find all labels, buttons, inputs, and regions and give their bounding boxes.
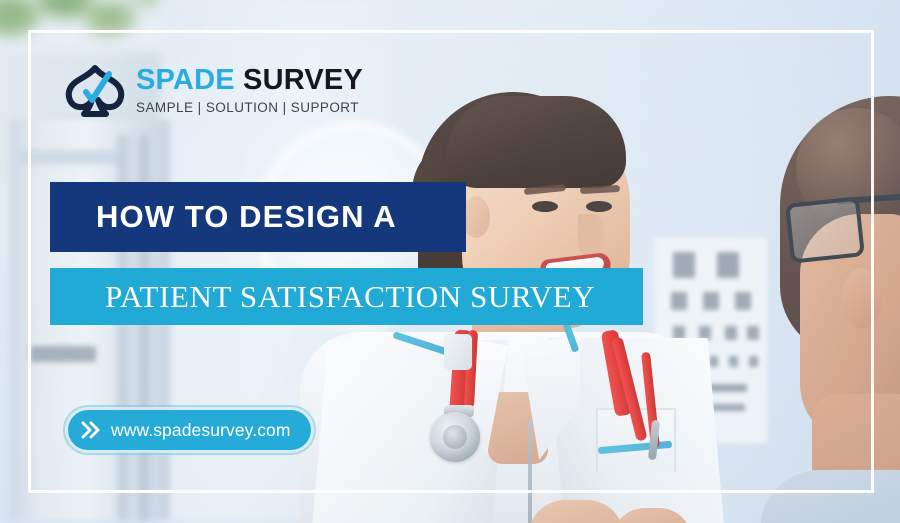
spade-check-icon [64,64,126,120]
patient-glasses-lens [785,196,865,263]
website-url-badge[interactable]: www.spadesurvey.com [68,410,311,450]
stethoscope-clip [444,334,472,370]
blurred-cabinet-handle [30,346,96,362]
doctor-coat-zipper [528,420,532,523]
headline-line-2: PATIENT SATISFACTION SURVEY [105,279,595,315]
logo-word-survey: SURVEY [235,64,363,96]
promotional-banner: SPADE SURVEY SAMPLE | SOLUTION | SUPPORT… [0,0,900,523]
logo-word-spade: SPADE [136,64,235,96]
logo-text-block: SPADE SURVEY SAMPLE | SOLUTION | SUPPORT [136,62,363,115]
headline-bar-primary: HOW TO DESIGN A [50,182,466,252]
website-url-text: www.spadesurvey.com [111,420,291,441]
doctor-eye-right [586,201,612,212]
patient-ear [842,268,882,328]
logo-tagline: SAMPLE | SOLUTION | SUPPORT [136,100,363,115]
headline-bar-secondary: PATIENT SATISFACTION SURVEY [50,268,643,325]
doctor-eye-left [532,201,558,212]
headline-line-1: HOW TO DESIGN A [96,199,397,235]
doctor-ear [462,196,490,238]
stethoscope-chestpiece [430,412,480,462]
doctor-nose [578,214,604,258]
brand-logo[interactable]: SPADE SURVEY SAMPLE | SOLUTION | SUPPORT [64,62,363,120]
double-chevron-right-icon [80,419,102,441]
doctor-hair-front [446,96,626,188]
logo-wordmark: SPADE SURVEY [136,66,363,95]
